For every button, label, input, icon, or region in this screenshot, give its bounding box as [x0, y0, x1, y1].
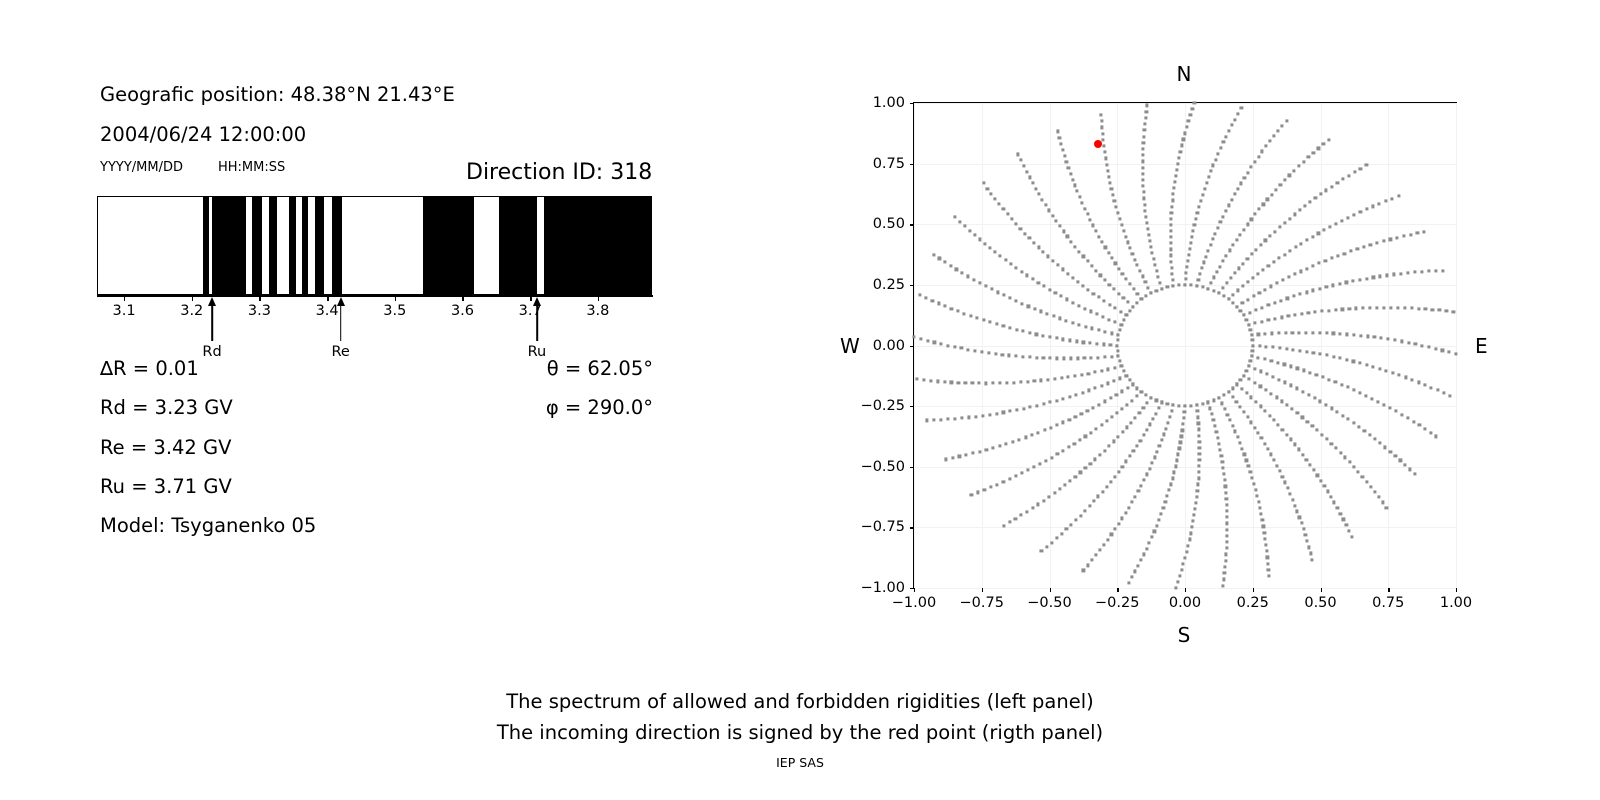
scatter-point: [1380, 337, 1383, 340]
scatter-point: [1325, 354, 1328, 357]
scatter-point: [1182, 562, 1185, 565]
scatter-point: [1266, 198, 1269, 201]
gridline-horizontal: [914, 527, 1456, 528]
scatter-point: [1065, 160, 1068, 163]
scatter-point: [1231, 424, 1234, 427]
scatter-point: [996, 291, 999, 294]
axis-tick: [598, 295, 599, 301]
x-axis-tick: [1321, 588, 1322, 592]
scatter-point: [1256, 431, 1259, 434]
scatter-point: [1235, 383, 1238, 386]
scatter-point: [1359, 391, 1362, 394]
scatter-point: [1300, 242, 1303, 245]
gridline-horizontal: [914, 224, 1456, 225]
scatter-point: [1219, 448, 1222, 451]
scatter-point: [1102, 145, 1105, 148]
scatter-point: [1115, 411, 1118, 414]
scatter-point: [1368, 306, 1371, 309]
scatter-point: [1320, 433, 1323, 436]
scatter-point: [1242, 410, 1245, 413]
scatter-point: [1116, 211, 1119, 214]
scatter-point: [1059, 142, 1062, 145]
scatter-point: [1223, 565, 1226, 568]
scatter-point: [1381, 501, 1384, 504]
scatter-point: [1037, 431, 1040, 434]
scatter-point: [1335, 447, 1338, 450]
scatter-point: [1309, 201, 1312, 204]
scatter-point: [1366, 335, 1369, 338]
scatter-point: [1166, 421, 1169, 424]
scatter-point: [1150, 291, 1153, 294]
scatter-point: [1104, 157, 1107, 160]
scatter-point: [1288, 174, 1291, 177]
scatter-point: [931, 299, 934, 302]
scatter-point: [1051, 214, 1054, 217]
scatter-point: [1197, 428, 1200, 431]
scatter-point: [1182, 138, 1185, 141]
scatter-point: [981, 414, 984, 417]
scatter-point: [1199, 199, 1202, 202]
scatter-point: [1107, 251, 1110, 254]
param-re: Re = 3.42 GV: [100, 436, 231, 459]
scatter-point: [1325, 331, 1328, 334]
scatter-point: [1298, 331, 1301, 334]
scatter-point: [1180, 144, 1183, 147]
scatter-point: [1132, 449, 1135, 452]
scatter-point: [1448, 394, 1451, 397]
scatter-point: [1046, 255, 1049, 258]
scatter-point: [925, 296, 928, 299]
scatter-point: [1266, 372, 1269, 375]
scatter-point: [1008, 326, 1011, 329]
scatter-point: [1314, 310, 1317, 313]
scatter-point: [1226, 413, 1229, 416]
y-axis-tick: [910, 406, 914, 407]
scatter-point: [1352, 465, 1355, 468]
scatter-point: [1262, 203, 1265, 206]
scatter-point: [1424, 308, 1427, 311]
scatter-point: [1312, 351, 1315, 354]
scatter-point: [1211, 238, 1214, 241]
scatter-point: [1408, 468, 1411, 471]
scatter-point: [1292, 348, 1295, 351]
scatter-point: [1251, 349, 1254, 352]
scatter-point: [1309, 552, 1312, 555]
scatter-point: [1230, 198, 1233, 201]
scatter-point: [1065, 298, 1068, 301]
scatter-point: [1372, 365, 1375, 368]
scatter-point: [1046, 312, 1049, 315]
scatter-point: [1031, 506, 1034, 509]
scatter-point: [1324, 403, 1327, 406]
param-theta: θ = 62.05°: [547, 357, 653, 380]
scatter-point: [1056, 264, 1059, 267]
scatter-point: [1187, 120, 1190, 123]
scatter-point: [1166, 402, 1169, 405]
x-axis-tick: [1456, 588, 1457, 592]
scatter-point: [1339, 357, 1342, 360]
scatter-point: [1079, 514, 1082, 517]
scatter-point: [1338, 282, 1341, 285]
scatter-point: [1153, 456, 1156, 459]
scatter-point: [1207, 287, 1210, 290]
scatter-point: [1141, 160, 1144, 163]
scatter-point: [1128, 379, 1131, 382]
scatter-point: [993, 250, 996, 253]
scatter-point: [1194, 501, 1197, 504]
scatter-point: [1143, 203, 1146, 206]
scatter-point: [995, 483, 998, 486]
marker-label: Ru: [528, 344, 547, 360]
compass-north-label: N: [1177, 62, 1192, 86]
y-axis-tick-label: 0.50: [873, 216, 905, 232]
scatter-point: [1182, 423, 1185, 426]
scatter-point: [1391, 371, 1394, 374]
scatter-point: [1058, 225, 1061, 228]
scatter-point: [1268, 414, 1271, 417]
scatter-point: [1418, 424, 1421, 427]
scatter-point: [964, 381, 967, 384]
scatter-point: [932, 253, 935, 256]
scatter-point: [1201, 285, 1204, 288]
scatter-point: [1309, 371, 1312, 374]
scatter-point: [1187, 253, 1190, 256]
scatter-point: [1022, 407, 1025, 410]
scatter-point: [1170, 260, 1173, 263]
scatter-point: [1147, 286, 1150, 289]
scatter-point: [1270, 193, 1273, 196]
scatter-point: [1140, 484, 1143, 487]
scatter-point: [1139, 439, 1142, 442]
scatter-point: [1055, 337, 1058, 340]
scatter-point: [1427, 270, 1430, 273]
scatter-point: [1073, 184, 1076, 187]
scatter-point: [1121, 431, 1124, 434]
scatter-point: [1028, 356, 1031, 359]
scatter-point: [1369, 485, 1372, 488]
scatter-point: [1332, 355, 1335, 358]
scatter-point: [1436, 389, 1439, 392]
scatter-point: [1058, 136, 1061, 139]
forbidden-band: [544, 197, 652, 294]
scatter-point: [1121, 465, 1124, 468]
scatter-point: [1233, 118, 1236, 121]
scatter-point: [1208, 407, 1211, 410]
scatter-point: [968, 229, 971, 232]
scatter-point: [1379, 442, 1382, 445]
scatter-point: [1260, 320, 1263, 323]
scatter-point: [1289, 492, 1292, 495]
scatter-point: [1209, 170, 1212, 173]
scatter-point: [1088, 504, 1091, 507]
scatter-point: [1404, 463, 1407, 466]
scatter-point: [1124, 277, 1127, 280]
scatter-point: [1277, 332, 1280, 335]
scatter-point: [1343, 252, 1346, 255]
scatter-point: [1178, 156, 1181, 159]
scatter-point: [1033, 380, 1036, 383]
scatter-point: [1348, 529, 1351, 532]
scatter-point: [1235, 305, 1238, 308]
scatter-point: [1263, 288, 1266, 291]
scatter-point: [1423, 427, 1426, 430]
scatter-point: [1178, 447, 1181, 450]
scatter-point: [1068, 395, 1071, 398]
scatter-point: [1242, 374, 1245, 377]
scatter-point: [1020, 514, 1023, 517]
scatter-point: [1284, 381, 1287, 384]
scatter-point: [955, 268, 958, 271]
scatter-point: [1054, 291, 1057, 294]
scatter-point: [1115, 205, 1118, 208]
scatter-point: [1182, 417, 1185, 420]
scatter-point: [1225, 509, 1228, 512]
scatter-point: [1365, 164, 1368, 167]
scatter-point: [1136, 264, 1139, 267]
scatter-point: [1220, 402, 1223, 405]
scatter-point: [1045, 545, 1048, 548]
scatter-point: [1106, 538, 1109, 541]
scatter-point: [1100, 423, 1103, 426]
scatter-point: [1377, 496, 1380, 499]
scatter-point: [1201, 402, 1204, 405]
scatter-point: [1250, 354, 1253, 357]
marker-label: Re: [331, 344, 349, 360]
scatter-point: [1339, 512, 1342, 515]
scatter-point: [1251, 339, 1254, 342]
scatter-point: [1267, 319, 1270, 322]
scatter-point: [1324, 259, 1327, 262]
scatter-point: [1145, 110, 1148, 113]
arrow-shaft: [536, 304, 538, 341]
scatter-point: [1135, 387, 1138, 390]
scatter-point: [1157, 518, 1160, 521]
scatter-point: [1061, 148, 1064, 151]
axis-tick-label: 3.1: [113, 303, 136, 319]
scatter-point: [1093, 371, 1096, 374]
scatter-point: [1298, 209, 1301, 212]
scatter-point: [1269, 285, 1272, 288]
x-axis-tick: [914, 588, 915, 592]
scatter-point: [1207, 401, 1210, 404]
scatter-point: [958, 220, 961, 223]
scatter-point: [1142, 434, 1145, 437]
scatter-point: [1160, 287, 1163, 290]
scatter-point: [991, 446, 994, 449]
y-axis-tick: [910, 467, 914, 468]
scatter-point: [1347, 216, 1350, 219]
scatter-point: [949, 264, 952, 267]
scatter-point: [1110, 533, 1113, 536]
scatter-point: [1284, 481, 1287, 484]
scatter-point: [972, 278, 975, 281]
scatter-point: [1196, 416, 1199, 419]
scatter-point: [1221, 260, 1224, 263]
scatter-point: [1082, 341, 1085, 344]
scatter-point: [1303, 205, 1306, 208]
scatter-point: [1307, 156, 1310, 159]
scatter-point: [1330, 407, 1333, 410]
scatter-point: [1110, 187, 1113, 190]
scatter-point: [1322, 143, 1325, 146]
scatter-point: [1266, 447, 1269, 450]
scatter-point: [1220, 454, 1223, 457]
gridline-horizontal: [914, 467, 1456, 468]
forbidden-band: [315, 197, 324, 294]
scatter-point: [1277, 129, 1280, 132]
scatter-point: [1035, 333, 1038, 336]
scatter-point: [1084, 509, 1087, 512]
scatter-point: [1283, 221, 1286, 224]
scatter-point: [1040, 550, 1043, 553]
scatter-point: [1023, 232, 1026, 235]
scatter-point: [1084, 435, 1087, 438]
scatter-point: [1198, 458, 1201, 461]
scatter-point: [1162, 433, 1165, 436]
scatter-point: [1284, 331, 1287, 334]
scatter-point: [1226, 522, 1229, 525]
scatter-point: [1115, 393, 1118, 396]
scatter-point: [1254, 213, 1257, 216]
scatter-point: [1198, 205, 1201, 208]
scatter-point: [1139, 559, 1142, 562]
scatter-point: [1285, 119, 1288, 122]
scatter-point: [1231, 387, 1234, 390]
scatter-point: [1250, 333, 1253, 336]
scatter-point: [1131, 252, 1134, 255]
scatter-point: [1144, 215, 1147, 218]
scatter-point: [1132, 383, 1135, 386]
scatter-point: [1175, 168, 1178, 171]
scatter-point: [1299, 270, 1302, 273]
scatter-point: [1359, 167, 1362, 170]
scatter-point: [1155, 269, 1158, 272]
scatter-point: [1231, 244, 1234, 247]
scatter-point: [1278, 226, 1281, 229]
scatter-point: [1306, 540, 1309, 543]
scatter-point: [1102, 343, 1105, 346]
scatter-point: [1092, 500, 1095, 503]
scatter-point: [1240, 182, 1243, 185]
scatter-point: [1094, 229, 1097, 232]
scatter-point: [946, 344, 949, 347]
scatter-point: [1127, 301, 1130, 304]
scatter-point: [1258, 506, 1261, 509]
scatter-point: [1319, 352, 1322, 355]
scatter-point: [1192, 520, 1195, 523]
scatter-point: [1265, 145, 1268, 148]
scatter-point: [989, 486, 992, 489]
scatter-point: [1375, 306, 1378, 309]
scatter-point: [1137, 490, 1140, 493]
scatter-point: [1032, 241, 1035, 244]
scatter-point: [1058, 317, 1061, 320]
scatter-point: [1291, 408, 1294, 411]
scatter-point: [1103, 278, 1106, 281]
scatter-point: [1254, 308, 1257, 311]
scatter-point: [1152, 257, 1155, 260]
scatter-point: [1109, 397, 1112, 400]
scatter-point: [1430, 386, 1433, 389]
scatter-point: [1112, 288, 1115, 291]
scatter-point: [1209, 281, 1212, 284]
scatter-point: [1117, 470, 1120, 473]
scatter-point: [1065, 528, 1068, 531]
scatter-point: [1032, 466, 1035, 469]
scatter-point: [1197, 278, 1200, 281]
scatter-point: [1089, 342, 1092, 345]
scatter-point: [1288, 249, 1291, 252]
scatter-point: [1099, 274, 1102, 277]
scatter-point: [1329, 495, 1332, 498]
scatter-point: [1020, 270, 1023, 273]
scatter-point: [1295, 387, 1298, 390]
scatter-point: [940, 418, 943, 421]
scatter-point: [1281, 428, 1284, 431]
scatter-point: [1265, 345, 1268, 348]
scatter-point: [1283, 179, 1286, 182]
scatter-point: [956, 310, 959, 313]
gridline-horizontal: [914, 346, 1456, 347]
scatter-point: [1198, 464, 1201, 467]
scatter-point: [943, 261, 946, 264]
scatter-point: [1141, 172, 1144, 175]
scatter-point: [1237, 267, 1240, 270]
scatter-point: [1053, 377, 1056, 380]
scatter-point: [1118, 328, 1121, 331]
scatter-point: [1199, 272, 1202, 275]
scatter-point: [1264, 332, 1267, 335]
scatter-point: [1142, 553, 1145, 556]
scatter-point: [1117, 522, 1120, 525]
scatter-point: [1224, 209, 1227, 212]
scatter-point: [1431, 308, 1434, 311]
scatter-point: [1393, 339, 1396, 342]
forbidden-band: [212, 197, 247, 294]
scatter-point: [1201, 267, 1204, 270]
scatter-point: [1307, 546, 1310, 549]
scatter-point: [1081, 284, 1084, 287]
scatter-point: [1101, 490, 1104, 493]
scatter-point: [1042, 402, 1045, 405]
scatter-point: [1125, 460, 1128, 463]
scatter-point: [1118, 360, 1121, 363]
scatter-point: [1062, 338, 1065, 341]
scatter-point: [1094, 458, 1097, 461]
scatter-point: [1340, 383, 1343, 386]
forbidden-band: [252, 197, 262, 294]
x-axis-tick: [982, 588, 983, 592]
scatter-point: [1086, 213, 1089, 216]
scatter-point: [1299, 293, 1302, 296]
scatter-point: [1142, 141, 1145, 144]
scatter-point: [1078, 323, 1081, 326]
scatter-point: [1065, 319, 1068, 322]
scatter-point: [1264, 388, 1267, 391]
scatter-point: [1031, 181, 1034, 184]
scatter-point: [1356, 248, 1359, 251]
scatter-point: [1245, 370, 1248, 373]
scatter-point: [1210, 413, 1213, 416]
scatter-point: [1187, 544, 1190, 547]
scatter-point: [1396, 306, 1399, 309]
scatter-point: [1218, 265, 1221, 268]
scatter-point: [1068, 418, 1071, 421]
scatter-point: [1253, 160, 1256, 163]
scatter-point: [1421, 344, 1424, 347]
scatter-point: [1235, 400, 1238, 403]
scatter-point: [1102, 543, 1105, 546]
